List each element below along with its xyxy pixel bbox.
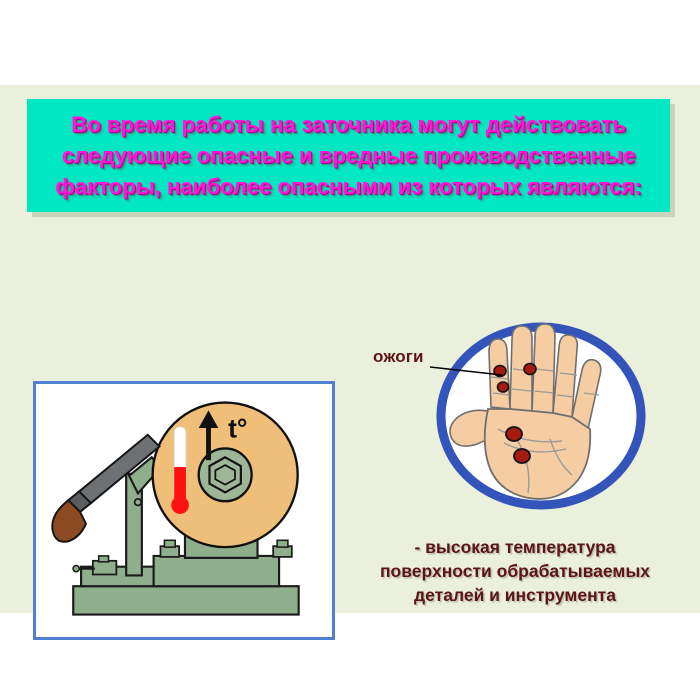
- caption-line-2: поверхности обрабатываемых: [355, 559, 675, 583]
- burns-leader-line: [430, 366, 502, 376]
- title-line-1: Во время работы на заточника могут дейст…: [71, 109, 626, 140]
- slide-canvas: Во время работы на заточника могут дейст…: [0, 85, 700, 613]
- caption-line-3: деталей и инструмента: [355, 583, 675, 607]
- title-line-2: следующие опасные и вредные производстве…: [62, 140, 636, 171]
- title-line-3: факторы, наиболее опасными из которых яв…: [55, 171, 641, 202]
- caption-line-1: - высокая температура: [355, 535, 675, 559]
- thermometer-icon: [171, 427, 189, 514]
- temperature-label: t°: [228, 414, 247, 444]
- hand-burns-figure: [432, 317, 650, 515]
- burns-label: ожоги: [373, 347, 424, 367]
- hand-with-burns-illustration: [432, 317, 650, 515]
- caption-text-block: - высокая температура поверхности обраба…: [355, 535, 675, 607]
- title-banner: Во время работы на заточника могут дейст…: [27, 99, 670, 212]
- grinder-image-frame: t°: [33, 381, 335, 640]
- bench-grinder-illustration: t°: [36, 384, 332, 637]
